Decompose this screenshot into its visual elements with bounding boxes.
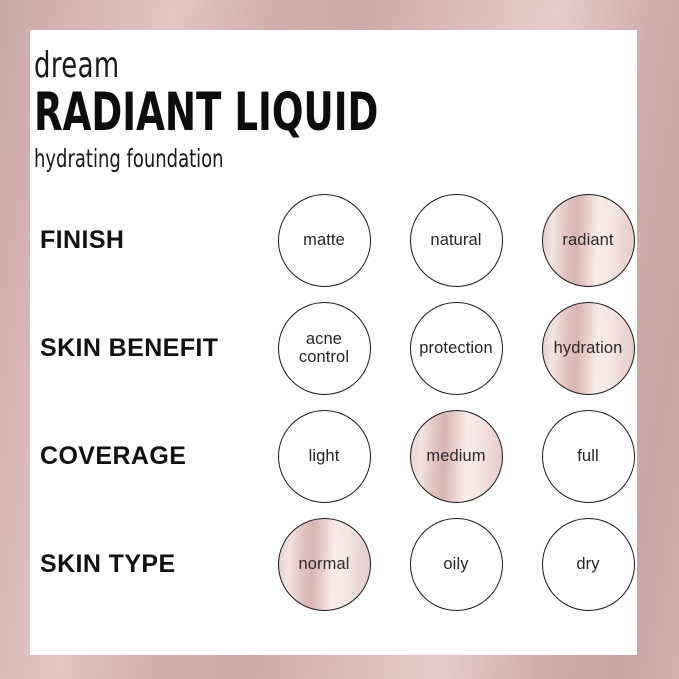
attribute-option-slot: acnecontrol (258, 302, 390, 395)
brand-line-dream: dream (34, 48, 387, 84)
attribute-option-label: acnecontrol (299, 330, 349, 367)
attribute-option-label: dry (576, 555, 599, 573)
attribute-option-slot: natural (390, 194, 522, 287)
attribute-grid: FINISHmattenaturalradiantSKIN BENEFITacn… (30, 186, 637, 618)
attribute-row-label: FINISH (30, 226, 258, 255)
attribute-option-bubble-selected[interactable]: normal (278, 518, 371, 611)
attribute-option-slot: radiant (522, 194, 654, 287)
attribute-option-slot: medium (390, 410, 522, 503)
attribute-option-slot: dry (522, 518, 654, 611)
attribute-row-label: COVERAGE (30, 442, 258, 471)
attribute-option-bubble-selected[interactable]: medium (410, 410, 503, 503)
attribute-option-label: full (577, 447, 599, 465)
attribute-option-label: natural (430, 231, 481, 249)
attribute-row-label: SKIN BENEFIT (30, 334, 258, 363)
attribute-option-slot: light (258, 410, 390, 503)
attribute-row: SKIN TYPEnormaloilydry (30, 510, 637, 618)
attribute-option-bubble[interactable]: matte (278, 194, 371, 287)
attribute-option-label: matte (303, 231, 345, 249)
attribute-option-bubble[interactable]: natural (410, 194, 503, 287)
brand-line-descriptor: hydrating foundation (34, 146, 387, 171)
content-canvas: dream RADIANT LIQUID hydrating foundatio… (30, 30, 637, 655)
attribute-option-bubble[interactable]: acnecontrol (278, 302, 371, 395)
brand-line-product-name: RADIANT LIQUID (34, 86, 378, 140)
attribute-row-label: SKIN TYPE (30, 550, 258, 579)
attribute-option-group: mattenaturalradiant (258, 194, 654, 287)
attribute-option-bubble[interactable]: oily (410, 518, 503, 611)
attribute-option-label: normal (298, 555, 349, 573)
brand-block: dream RADIANT LIQUID hydrating foundatio… (34, 48, 476, 171)
attribute-option-slot: oily (390, 518, 522, 611)
attribute-option-bubble[interactable]: dry (542, 518, 635, 611)
attribute-option-slot: normal (258, 518, 390, 611)
attribute-option-label: radiant (562, 231, 613, 249)
attribute-option-group: lightmediumfull (258, 410, 654, 503)
attribute-option-label: hydration (554, 339, 623, 357)
attribute-option-slot: hydration (522, 302, 654, 395)
attribute-option-bubble[interactable]: protection (410, 302, 503, 395)
attribute-option-label: protection (419, 339, 492, 357)
attribute-option-bubble[interactable]: full (542, 410, 635, 503)
attribute-option-bubble[interactable]: light (278, 410, 371, 503)
product-infographic: dream RADIANT LIQUID hydrating foundatio… (0, 0, 679, 679)
attribute-option-label: light (309, 447, 340, 465)
attribute-option-slot: full (522, 410, 654, 503)
attribute-option-bubble-selected[interactable]: hydration (542, 302, 635, 395)
attribute-option-slot: matte (258, 194, 390, 287)
attribute-option-bubble-selected[interactable]: radiant (542, 194, 635, 287)
attribute-row: SKIN BENEFITacnecontrolprotectionhydrati… (30, 294, 637, 402)
attribute-option-group: normaloilydry (258, 518, 654, 611)
attribute-row: COVERAGElightmediumfull (30, 402, 637, 510)
attribute-option-group: acnecontrolprotectionhydration (258, 302, 654, 395)
attribute-option-slot: protection (390, 302, 522, 395)
attribute-row: FINISHmattenaturalradiant (30, 186, 637, 294)
attribute-option-label: medium (426, 447, 485, 465)
attribute-option-label: oily (443, 555, 468, 573)
